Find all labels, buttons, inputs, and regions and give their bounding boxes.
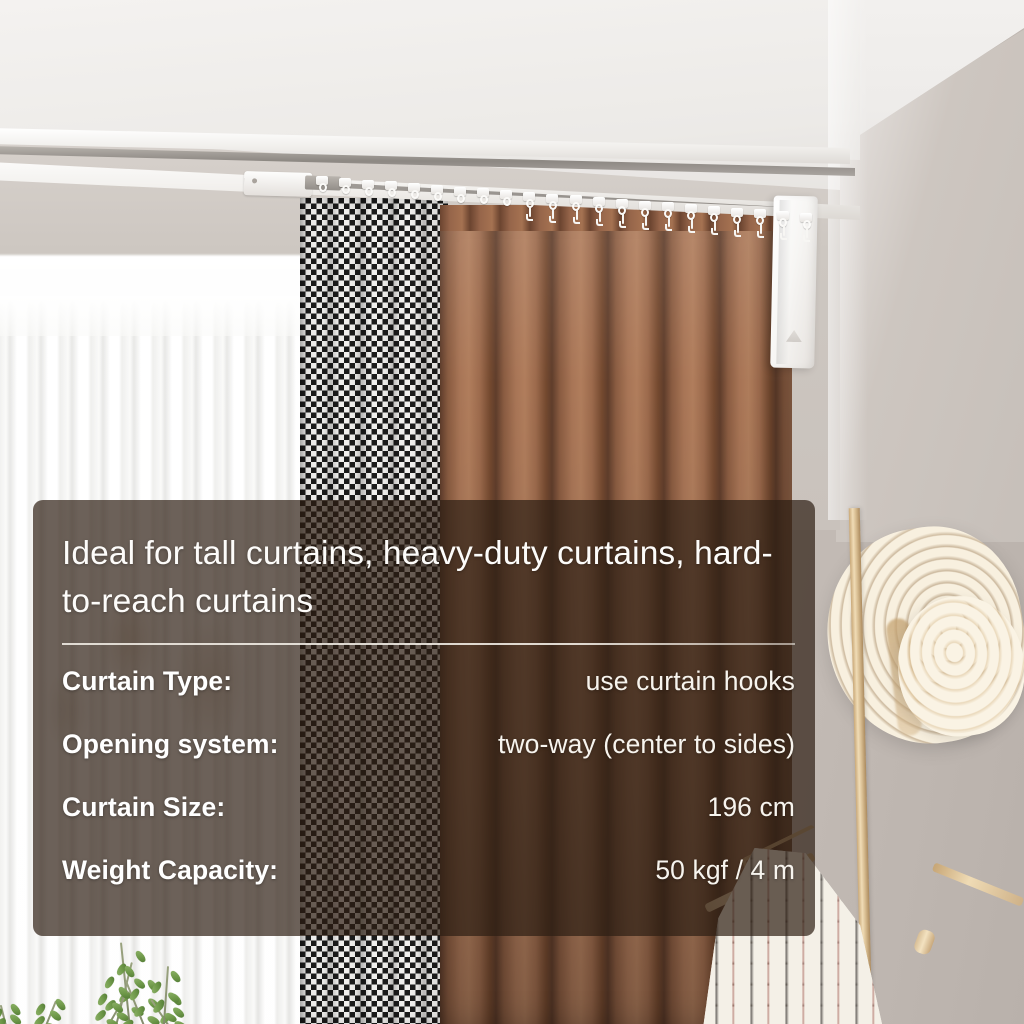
curtain-hook xyxy=(593,197,605,209)
plant-leaf xyxy=(147,1014,162,1024)
hook-ring xyxy=(342,185,350,194)
curtain-hook xyxy=(570,195,582,207)
hook-ring xyxy=(388,188,396,197)
curtain-hook xyxy=(639,201,651,213)
hook-tail xyxy=(576,209,578,220)
curtain-hook xyxy=(477,188,489,200)
curtain-hook xyxy=(546,194,558,206)
plant-leaf xyxy=(32,1014,46,1024)
hook-tail xyxy=(737,222,739,233)
plant-leaf xyxy=(33,1003,47,1018)
spec-value: use curtain hooks xyxy=(586,666,795,697)
curtain-hook xyxy=(408,183,420,195)
spec-list: Curtain Type:use curtain hooksOpening sy… xyxy=(62,666,795,918)
hook-tail xyxy=(691,218,693,229)
hook-ring xyxy=(480,195,488,204)
hook-tail xyxy=(806,227,808,238)
spec-row: Opening system:two-way (center to sides) xyxy=(62,729,795,792)
curtain-hook xyxy=(731,208,743,220)
curtain-hook xyxy=(431,185,443,197)
spec-value: 50 kgf / 4 m xyxy=(655,855,795,886)
plant-leaf xyxy=(0,1017,8,1024)
spec-value: 196 cm xyxy=(707,792,795,823)
curtain-hook xyxy=(777,211,789,223)
spec-overlay-panel: Ideal for tall curtains, heavy-duty curt… xyxy=(33,500,815,936)
spec-label: Curtain Type: xyxy=(62,666,232,697)
plant-leaf xyxy=(49,1009,63,1023)
hook-tail xyxy=(783,225,785,236)
overlay-headline: Ideal for tall curtains, heavy-duty curt… xyxy=(62,530,795,625)
curtain-hook xyxy=(800,213,812,225)
plant-leaf xyxy=(103,976,117,991)
hook-ring xyxy=(319,183,327,192)
spec-label: Curtain Size: xyxy=(62,792,225,823)
spec-row: Curtain Type:use curtain hooks xyxy=(62,666,795,729)
sheer-curtain-header xyxy=(0,296,326,336)
hook-ring xyxy=(434,192,442,201)
curtain-hook xyxy=(362,180,374,192)
hook-ring xyxy=(503,197,511,206)
hook-tail xyxy=(599,211,601,222)
curtain-hook xyxy=(616,199,628,211)
plant-leaf xyxy=(134,949,147,964)
plant-leaf xyxy=(54,997,67,1012)
hook-tail xyxy=(760,223,762,234)
hook-tail xyxy=(714,220,716,231)
hook-ring xyxy=(411,190,419,199)
spec-value: two-way (center to sides) xyxy=(498,729,795,760)
hook-tail xyxy=(645,215,647,226)
hook-tail xyxy=(668,216,670,227)
curtain-hook xyxy=(708,206,720,218)
spec-row: Curtain Size:196 cm xyxy=(62,792,795,855)
curtain-hook xyxy=(685,204,697,216)
curtain-hook xyxy=(385,181,397,193)
hook-ring xyxy=(457,194,465,203)
curtain-hook xyxy=(662,202,674,214)
curtain-hook xyxy=(754,209,766,221)
spec-label: Opening system: xyxy=(62,729,279,760)
hook-ring xyxy=(365,187,373,196)
curtain-hook xyxy=(454,187,466,199)
curtain-hook xyxy=(500,190,512,202)
spec-row: Weight Capacity:50 kgf / 4 m xyxy=(62,855,795,918)
hook-tail xyxy=(622,213,624,224)
potted-plant xyxy=(0,930,250,1024)
spec-label: Weight Capacity: xyxy=(62,855,278,886)
curtain-hook-group xyxy=(0,0,1024,260)
curtain-hook xyxy=(316,176,328,188)
curtain-hook xyxy=(523,192,535,204)
product-photo-scene: Ideal for tall curtains, heavy-duty curt… xyxy=(0,0,1024,1024)
plant-leaf xyxy=(170,969,183,984)
overlay-divider xyxy=(62,643,795,645)
curtain-hook xyxy=(339,178,351,190)
